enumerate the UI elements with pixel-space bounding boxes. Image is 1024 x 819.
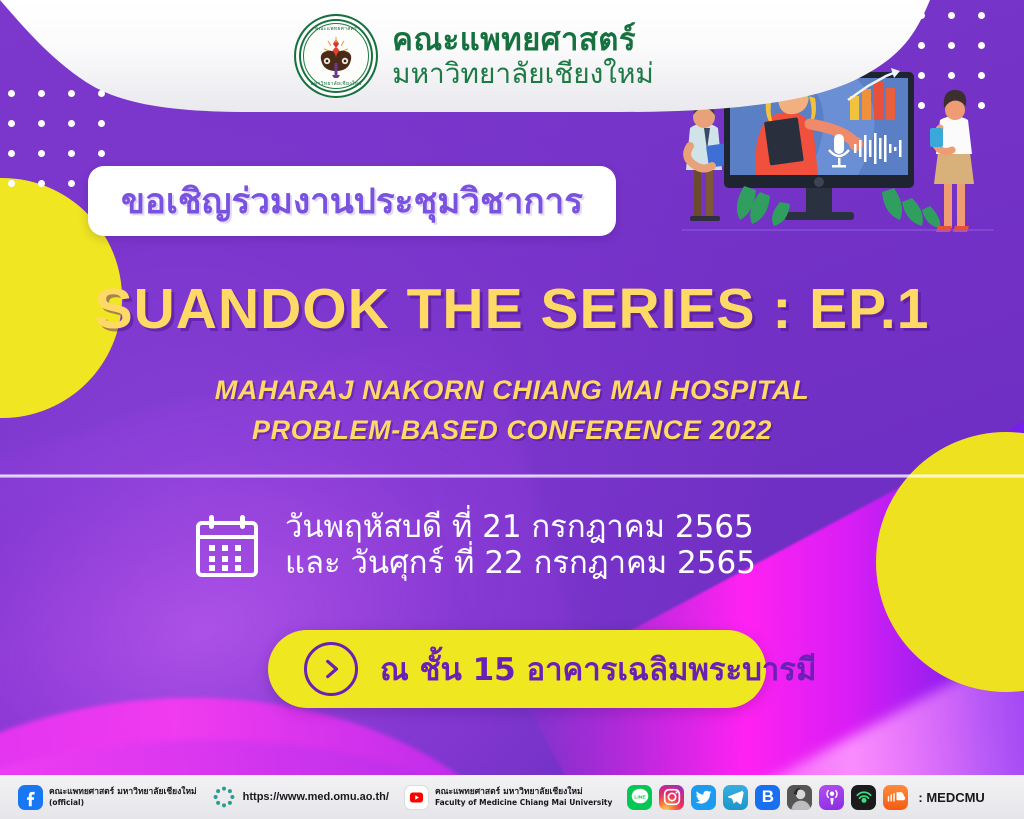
line-icon[interactable]: LINE: [627, 785, 652, 810]
footer-facebook-line2: (official): [49, 798, 197, 807]
footer-youtube[interactable]: คณะแพทยศาสตร์ มหาวิทยาลัยเชียงใหม่ Facul…: [404, 785, 612, 810]
footer-bar: คณะแพทยศาสตร์ มหาวิทยาลัยเชียงใหม่ (offi…: [0, 775, 1024, 819]
svg-text:LINE: LINE: [634, 794, 646, 800]
venue-label: ณ ชั้น 15 อาคารเฉลิมพระบารมี: [380, 644, 816, 694]
event-date-line2: และ วันศุกร์ ที่ 22 กรกฎาคม 2565: [285, 546, 756, 582]
footer-facebook-line1: คณะแพทยศาสตร์ มหาวิทยาลัยเชียงใหม่: [49, 787, 197, 797]
event-date-block: วันพฤหัสบดี ที่ 21 กรกฎาคม 2565 และ วันศ…: [195, 510, 756, 582]
event-poster: คณะแพทยศาสตร์ มหาวิทยาลัยเชียงใหม่: [0, 0, 1024, 819]
photo-profile-icon[interactable]: [787, 785, 812, 810]
venue-banner: ณ ชั้น 15 อาคารเฉลิมพระบารมี: [268, 630, 766, 708]
blockdit-icon[interactable]: B: [755, 785, 780, 810]
faculty-name-line1: คณะแพทยศาสตร์: [392, 24, 654, 57]
twitter-icon[interactable]: [691, 785, 716, 810]
cmu-faculty-of-medicine-seal-icon: คณะแพทยศาสตร์ มหาวิทยาลัยเชียงใหม่: [294, 14, 378, 98]
invite-label: ขอเชิญร่วมงานประชุมวิชาการ: [121, 174, 583, 229]
subtitle-line1: MAHARAJ NAKORN CHIANG MAI HOSPITAL: [0, 375, 1024, 406]
faculty-name: คณะแพทยศาสตร์ มหาวิทยาลัยเชียงใหม่: [392, 24, 654, 89]
facebook-icon[interactable]: [18, 785, 43, 810]
soundcloud-icon[interactable]: [883, 785, 908, 810]
subtitle-line2: PROBLEM-BASED CONFERENCE 2022: [0, 415, 1024, 446]
footer-facebook-text: คณะแพทยศาสตร์ มหาวิทยาลัยเชียงใหม่ (offi…: [49, 787, 197, 806]
invite-banner: ขอเชิญร่วมงานประชุมวิชาการ: [88, 166, 616, 236]
apple-podcasts-icon[interactable]: [819, 785, 844, 810]
calendar-icon: [195, 513, 259, 579]
telegram-icon[interactable]: [723, 785, 748, 810]
chevron-right-circle-icon: [304, 642, 358, 696]
footer-handle: : MEDCMU: [918, 790, 984, 805]
instagram-icon[interactable]: [659, 785, 684, 810]
footer-youtube-line2: Faculty of Medicine Chiang Mai Universit…: [435, 798, 612, 807]
seal-text-bottom: มหาวิทยาลัยเชียงใหม่: [296, 80, 376, 88]
footer-youtube-line1: คณะแพทยศาสตร์ มหาวิทยาลัยเชียงใหม่: [435, 787, 583, 797]
header-content: คณะแพทยศาสตร์ มหาวิทยาลัยเชียงใหม่: [0, 0, 930, 112]
faculty-name-line2: มหาวิทยาลัยเชียงใหม่: [392, 59, 654, 89]
event-dates: วันพฤหัสบดี ที่ 21 กรกฎาคม 2565 และ วันศ…: [285, 510, 756, 582]
event-date-line1: วันพฤหัสบดี ที่ 21 กรกฎาคม 2565: [285, 510, 756, 546]
seal-text-top: คณะแพทยศาสตร์: [296, 25, 376, 33]
page-title: SUANDOK THE SERIES : EP.1: [0, 276, 1024, 342]
footer-youtube-text: คณะแพทยศาสตร์ มหาวิทยาลัยเชียงใหม่ Facul…: [435, 787, 612, 806]
footer-website[interactable]: https://www.med.omu.ao.th/: [212, 785, 389, 810]
footer-facebook[interactable]: คณะแพทยศาสตร์ มหาวิทยาลัยเชียงใหม่ (offi…: [18, 785, 197, 810]
youtube-icon[interactable]: [404, 785, 429, 810]
footer-website-url[interactable]: https://www.med.omu.ao.th/: [243, 791, 389, 803]
podcast-icon[interactable]: [851, 785, 876, 810]
section-divider: [0, 474, 1024, 478]
website-icon[interactable]: [212, 785, 237, 810]
